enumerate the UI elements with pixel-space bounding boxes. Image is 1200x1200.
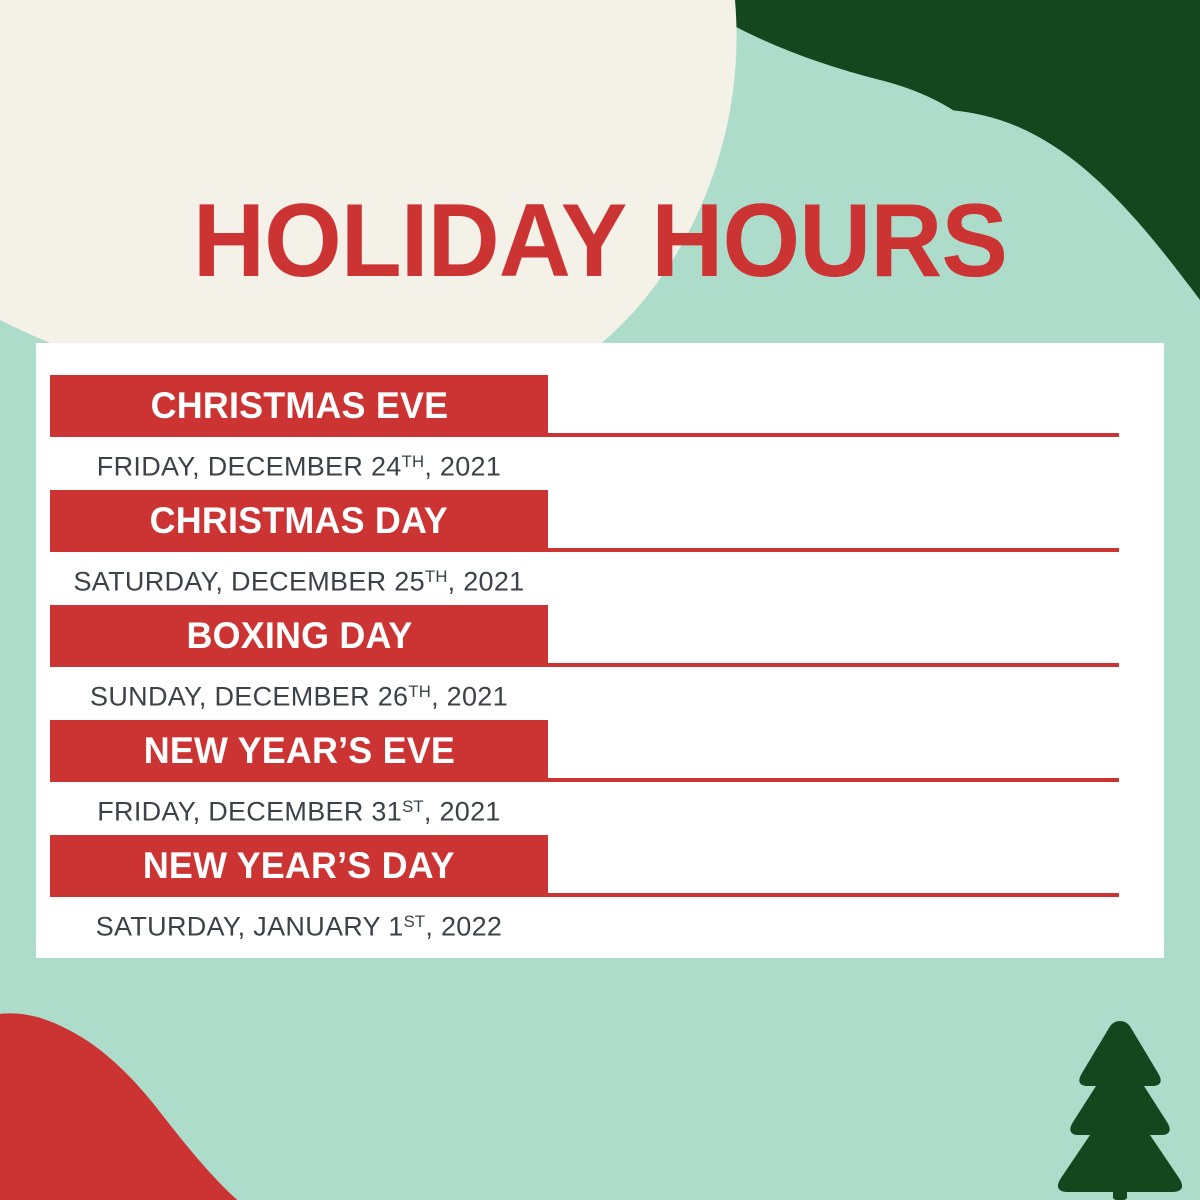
holiday-name-bar: CHRISTMAS EVE (50, 375, 548, 437)
holiday-hours-poster: HOLIDAY HOURS CHRISTMAS EVE FRIDAY, DECE… (0, 0, 1200, 1200)
holiday-name-label: CHRISTMAS EVE (150, 386, 448, 426)
holiday-date-year: , 2021 (431, 682, 508, 712)
holiday-date-ordinal: TH (402, 452, 425, 471)
holiday-date-ordinal: ST (402, 797, 424, 816)
holiday-date-ordinal: TH (408, 682, 431, 701)
holiday-date-year: , 2021 (448, 567, 525, 597)
holiday-date-year: , 2021 (424, 797, 501, 827)
holiday-date-ordinal: ST (404, 912, 426, 931)
holiday-date-year: , 2021 (424, 452, 501, 482)
holiday-name-bar: NEW YEAR’S EVE (50, 720, 548, 782)
holiday-date-year: , 2022 (425, 912, 502, 942)
list-item: NEW YEAR’S EVE FRIDAY, DECEMBER 31ST, 20… (36, 720, 1164, 835)
holiday-name-bar: CHRISTMAS DAY (50, 490, 548, 552)
holiday-name-label: NEW YEAR’S EVE (143, 731, 454, 771)
page-title: HOLIDAY HOURS (24, 186, 1176, 296)
list-item: CHRISTMAS DAY SATURDAY, DECEMBER 25TH, 2… (36, 490, 1164, 605)
list-item: NEW YEAR’S DAY SATURDAY, JANUARY 1ST, 20… (36, 835, 1164, 950)
holiday-date-weekday: SUNDAY, DECEMBER 26 (90, 682, 408, 712)
hours-list: CHRISTMAS EVE FRIDAY, DECEMBER 24TH, 202… (36, 343, 1164, 958)
holiday-name-label: NEW YEAR’S DAY (143, 846, 455, 886)
holiday-date-weekday: FRIDAY, DECEMBER 24 (97, 452, 402, 482)
holiday-date-ordinal: TH (425, 567, 448, 586)
holiday-date-weekday: FRIDAY, DECEMBER 31 (97, 797, 402, 827)
holiday-name-bar: BOXING DAY (50, 605, 548, 667)
holiday-date-weekday: SATURDAY, JANUARY 1 (96, 912, 404, 942)
holiday-date: SUNDAY, DECEMBER 26TH, 2021 (50, 669, 548, 720)
list-item: BOXING DAY SUNDAY, DECEMBER 26TH, 2021 (36, 605, 1164, 720)
holiday-name-bar: NEW YEAR’S DAY (50, 835, 548, 897)
holiday-date: SATURDAY, DECEMBER 25TH, 2021 (50, 554, 548, 605)
holiday-date: FRIDAY, DECEMBER 24TH, 2021 (50, 439, 548, 490)
holiday-date: FRIDAY, DECEMBER 31ST, 2021 (50, 784, 548, 835)
holiday-name-label: BOXING DAY (186, 616, 412, 656)
holiday-date-weekday: SATURDAY, DECEMBER 25 (74, 567, 425, 597)
hours-card: CHRISTMAS EVE FRIDAY, DECEMBER 24TH, 202… (36, 343, 1164, 958)
holiday-date: SATURDAY, JANUARY 1ST, 2022 (50, 899, 548, 950)
list-item: CHRISTMAS EVE FRIDAY, DECEMBER 24TH, 202… (36, 375, 1164, 490)
holiday-name-label: CHRISTMAS DAY (150, 501, 448, 541)
